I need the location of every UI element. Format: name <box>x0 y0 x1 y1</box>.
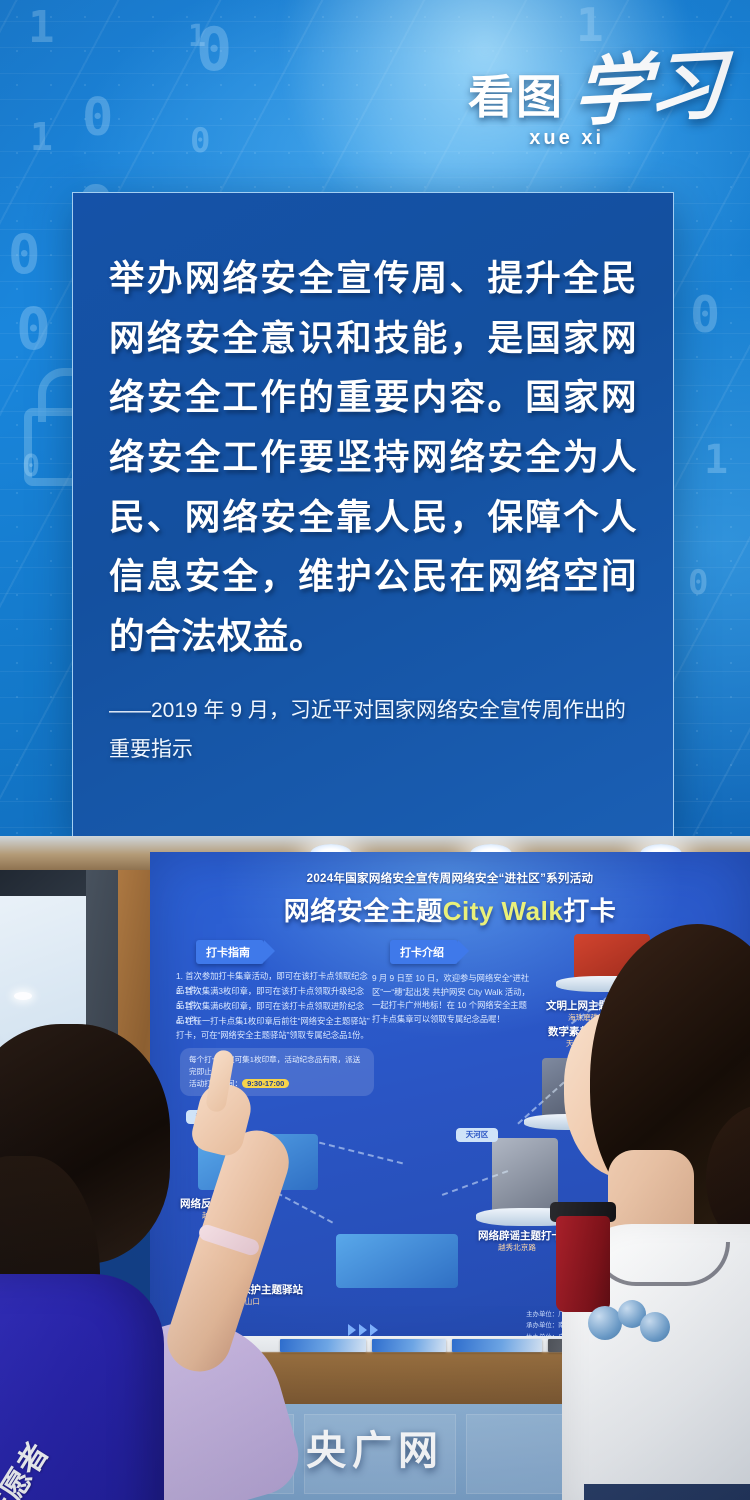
guide-tag: 打卡指南 <box>196 940 264 964</box>
illustration-landmark-arch <box>492 1138 558 1216</box>
quote-card: 举办网络安全宣传周、提升全民网络安全意识和技能，是国家网络安全工作的重要内容。国… <box>72 192 674 837</box>
board-title-en: City Walk <box>443 896 564 926</box>
binary-glyph: 0 <box>16 300 51 358</box>
chevron-arrows-icon <box>348 1324 378 1336</box>
visitor-skirt <box>584 1484 750 1500</box>
binary-glyph: 1 <box>28 6 55 50</box>
quote-attribution: ——2019 年 9 月，习近平对国家网络安全宣传周作出的重要指示 <box>109 692 637 768</box>
route-dash <box>319 1142 403 1165</box>
binary-glyph: 1 <box>576 2 604 48</box>
board-header: 2024年国家网络安全宣传周网络安全“进社区”系列活动 网络安全主题City W… <box>150 852 750 928</box>
decor-spheres <box>588 1298 672 1342</box>
board-title: 网络安全主题City Walk打卡 <box>150 891 750 928</box>
photo-scene: 2024年国家网络安全宣传周网络安全“进社区”系列活动 网络安全主题City W… <box>0 836 750 1500</box>
binary-glyph: 0 <box>190 124 210 158</box>
board-title-cn-1: 网络安全主题 <box>284 896 443 926</box>
watermark: 央广网 <box>0 1418 750 1476</box>
brochure <box>452 1339 542 1352</box>
binary-glyph: 1 <box>704 440 728 480</box>
binary-glyph: 0 <box>690 290 720 340</box>
binary-glyph: 1 <box>30 118 53 156</box>
logo-main-text: 看图 <box>468 74 564 120</box>
intro-text: 9 月 9 日至 10 日，欢迎参与网络安全“进社区”一“穗”起出发 共护网安 … <box>372 972 532 1027</box>
quote-text: 举办网络安全宣传周、提升全民网络安全意识和技能，是国家网络安全工作的重要内容。国… <box>109 249 637 666</box>
illustration-booth-privacy <box>336 1234 458 1288</box>
brand-logo: 看图 学习 xue xi <box>468 58 722 150</box>
board-subtitle: 2024年国家网络安全宣传周网络安全“进社区”系列活动 <box>150 870 750 886</box>
poster-root: 1 1 0 0 1 0 0 0 1 0 1 0 1 0 0 看图 学习 xue … <box>0 0 750 1500</box>
binary-glyph: 0 <box>82 92 113 144</box>
board-title-cn-2: 打卡 <box>563 896 616 926</box>
station-sub: 越秀北京路 <box>498 1242 536 1253</box>
intro-tag: 打卡介绍 <box>390 940 458 964</box>
logo-script-text: 学习 <box>572 54 724 124</box>
binary-glyph: 0 <box>196 20 232 80</box>
district-sign: 天河区 <box>456 1128 498 1142</box>
binary-glyph: 0 <box>8 228 41 282</box>
volunteer-arm <box>159 1122 297 1380</box>
binary-glyph: 0 <box>688 566 708 600</box>
brochure <box>372 1339 446 1352</box>
